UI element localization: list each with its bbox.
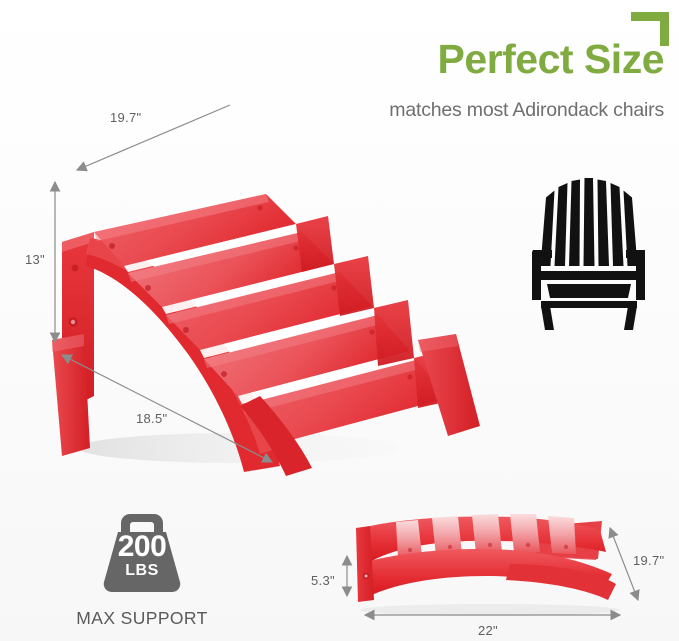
adirondack-chair-silhouette-icon	[521, 170, 657, 332]
max-support-badge: 200 LBS MAX SUPPORT	[52, 508, 268, 634]
dimension-label-folded-diagonal: 19.7"	[633, 553, 664, 568]
dimension-label-folded-height: 5.3"	[311, 573, 335, 588]
dimension-label-depth: 18.5"	[136, 411, 167, 426]
max-support-caption: MAX SUPPORT	[46, 608, 238, 629]
dimension-label-height: 13"	[25, 252, 45, 267]
dimension-label-width-top: 19.7"	[110, 110, 141, 125]
weight-kettlebell-icon	[96, 508, 188, 594]
red-adirondack-ottoman	[28, 96, 488, 476]
page-title: Perfect Size	[344, 38, 664, 81]
red-ottoman-folded	[300, 492, 679, 641]
dimension-label-folded-width: 22"	[478, 623, 498, 638]
infographic-canvas: Perfect Size matches most Adirondack cha…	[0, 0, 679, 641]
